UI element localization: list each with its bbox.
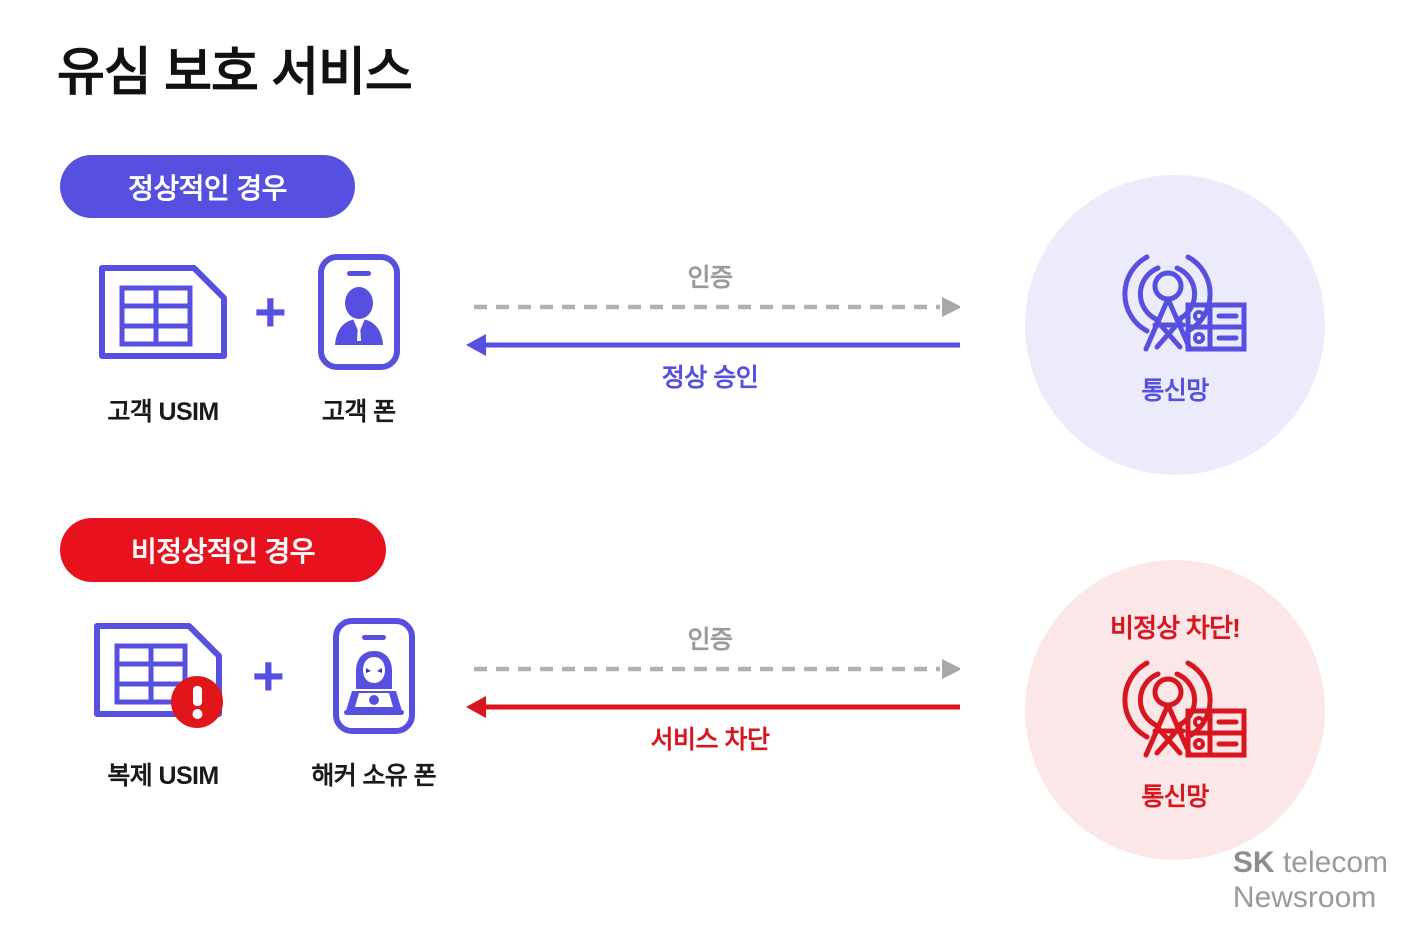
status-badge-abnormal: 비정상적인 경우	[60, 518, 386, 582]
flow-bottom-label-normal: 정상 승인	[460, 358, 960, 394]
sim-card-art	[98, 252, 228, 372]
network-caption-normal: 통신망	[1141, 371, 1208, 407]
flow-abnormal: 인증 서비스 차단	[460, 612, 960, 772]
phone-abnormal: 해커 소유 폰	[299, 616, 449, 792]
phone-user-icon	[317, 253, 401, 371]
sim-card-caption-abnormal: 복제 USIM	[107, 756, 218, 792]
phone-caption-abnormal: 해커 소유 폰	[311, 756, 436, 792]
cell-tower-server-icon-normal	[1102, 243, 1248, 355]
sim-card-icon	[93, 622, 233, 730]
sim-card-icon	[98, 264, 228, 360]
page-title: 유심 보호 서비스	[57, 30, 412, 105]
network-alert-badge: 비정상 차단!	[1110, 608, 1240, 645]
phone-art-abnormal	[332, 616, 416, 736]
network-node-normal: 통신망	[1025, 175, 1325, 475]
plus-icon-normal: +	[254, 252, 287, 372]
sk-telecom-newsroom-logo: SK telecom Newsroom	[1233, 846, 1388, 916]
sim-card-art-abnormal	[93, 616, 233, 736]
phone-art	[317, 252, 401, 372]
solid-left-arrow-normal	[466, 334, 960, 356]
phone-normal: 고객 폰	[303, 252, 415, 428]
solid-left-arrow-abnormal	[466, 696, 960, 718]
logo-sk-text: SK	[1233, 846, 1275, 879]
sim-card-normal: 고객 USIM	[88, 252, 238, 428]
status-badge-normal: 정상적인 경우	[60, 155, 355, 218]
logo-line-one: SK telecom	[1233, 846, 1388, 881]
network-caption-abnormal: 통신망	[1141, 777, 1208, 813]
network-node-abnormal: 비정상 차단! 통신망	[1025, 560, 1325, 860]
phone-hacker-icon	[332, 617, 416, 735]
device-group-abnormal: 복제 USIM + 해커 소유 폰	[88, 616, 449, 792]
plus-icon-abnormal: +	[252, 616, 285, 736]
device-group-normal: 고객 USIM + 고객 폰	[88, 252, 415, 428]
sim-card-abnormal: 복제 USIM	[88, 616, 238, 792]
flow-bottom-label-abnormal: 서비스 차단	[460, 720, 960, 756]
dashed-right-arrow-abnormal	[474, 659, 960, 679]
warning-exclamation-icon	[171, 676, 223, 728]
server-rack-glyph	[1188, 305, 1244, 349]
logo-newsroom-text: Newsroom	[1233, 881, 1388, 916]
phone-caption-normal: 고객 폰	[322, 392, 396, 428]
dashed-right-arrow-normal	[474, 297, 960, 317]
flow-normal: 인증 정상 승인	[460, 250, 960, 410]
logo-telecom-text: telecom	[1275, 846, 1388, 879]
cell-tower-server-icon-abnormal	[1102, 649, 1248, 761]
sim-card-caption-normal: 고객 USIM	[107, 392, 218, 428]
server-rack-glyph	[1188, 711, 1244, 755]
